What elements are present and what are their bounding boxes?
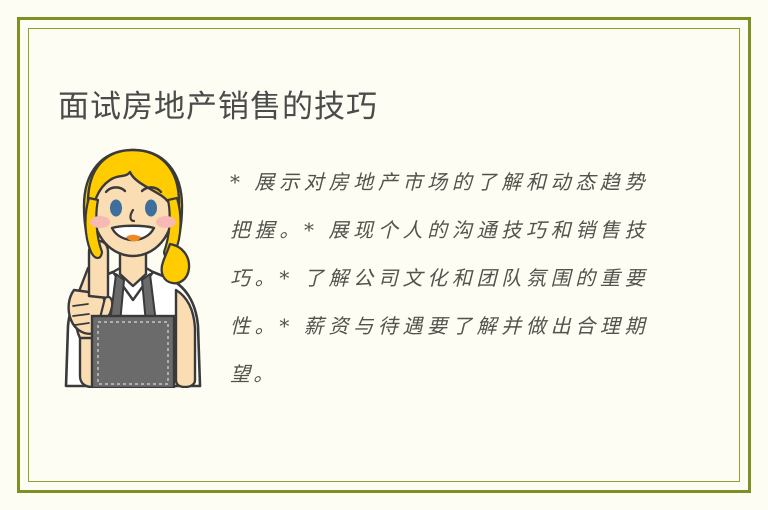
content-row: * 展示对房地产市场的了解和动态趋势把握。* 展现个人的沟通技巧和销售技巧。* … bbox=[58, 148, 698, 398]
apron-bib bbox=[92, 316, 174, 388]
cartoon-woman-illustration bbox=[58, 148, 208, 388]
blush-right bbox=[156, 216, 176, 228]
document-page: 面试房地产销售的技巧 bbox=[0, 0, 768, 510]
eye-right bbox=[145, 200, 157, 217]
body-paragraph: * 展示对房地产市场的了解和动态趋势把握。* 展现个人的沟通技巧和销售技巧。* … bbox=[230, 158, 648, 398]
blush-left bbox=[90, 216, 110, 228]
page-title: 面试房地产销售的技巧 bbox=[58, 86, 378, 128]
eye-left bbox=[110, 200, 122, 217]
